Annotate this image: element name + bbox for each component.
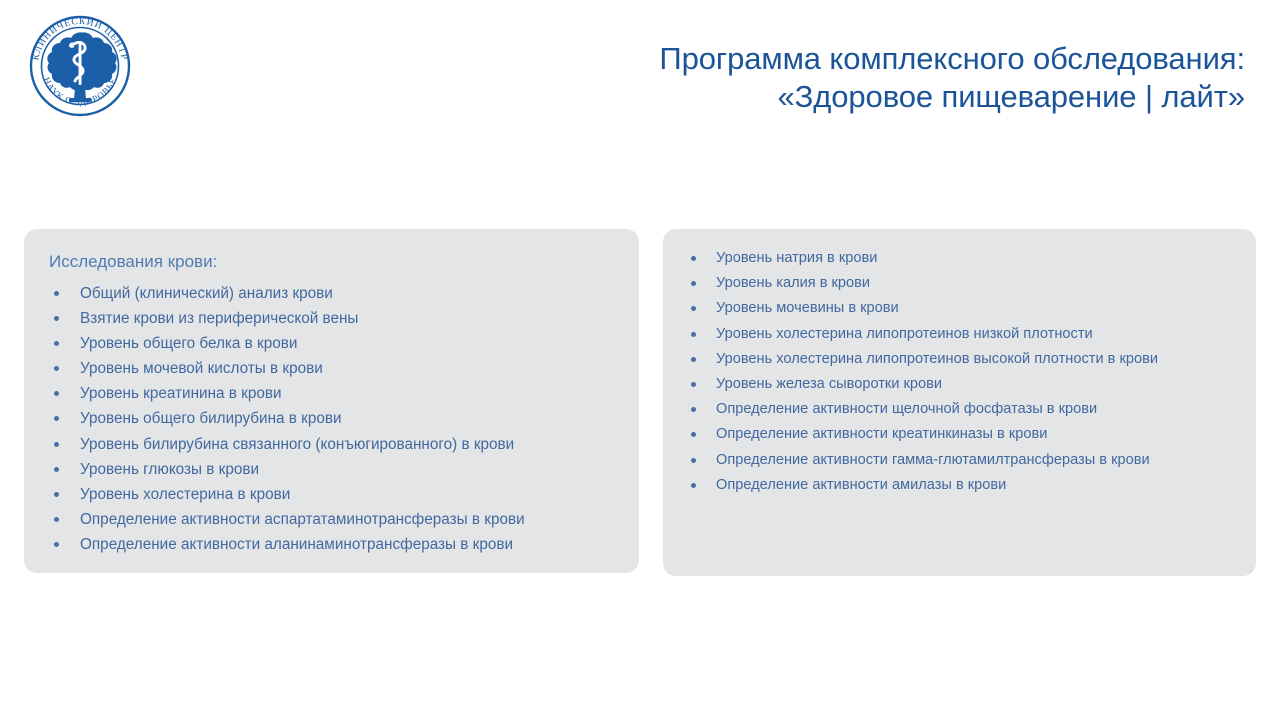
blood-test-label: Уровень креатинина в крови: [80, 385, 282, 402]
blood-test-label: Определение активности гамма-глютамилтра…: [716, 452, 1150, 468]
list-item: Определение активности гамма-глютамилтра…: [677, 448, 1242, 473]
blood-test-label: Уровень холестерина в крови: [80, 486, 290, 503]
bullet-dot-icon: [54, 542, 59, 547]
blood-test-label: Уровень железа сыворотки крови: [716, 376, 942, 392]
list-item: Взятие крови из периферической вены: [38, 306, 625, 331]
list-item: Уровень билирубина связанного (конъюгиро…: [38, 432, 625, 457]
blood-test-label: Определение активности креатинкиназы в к…: [716, 426, 1047, 442]
blood-tests-list: Общий (клинический) анализ кровиВзятие к…: [38, 281, 625, 557]
blood-test-label: Взятие крови из периферической вены: [80, 310, 358, 327]
blood-test-label: Уровень натрия в крови: [716, 250, 877, 266]
list-item: Уровень мочевой кислоты в крови: [38, 356, 625, 381]
blood-test-label: Уровень холестерина липопротеинов высоко…: [716, 351, 1158, 367]
clinic-logo: КЛИНИЧЕСКИЙ ЦЕНТР НАУК О ЗДОРОВЬЕ: [22, 8, 138, 124]
bullet-dot-icon: [691, 357, 696, 362]
blood-test-label: Определение активности аспартатаминотран…: [80, 511, 525, 528]
blood-test-label: Уровень билирубина связанного (конъюгиро…: [80, 436, 514, 453]
list-item: Определение активности щелочной фосфатаз…: [677, 397, 1242, 422]
bullet-dot-icon: [691, 432, 696, 437]
blood-test-label: Определение активности аланинаминотрансф…: [80, 536, 513, 553]
list-item: Определение активности аланинаминотрансф…: [38, 532, 625, 557]
blood-test-label: Уровень общего белка в крови: [80, 335, 297, 352]
page-title-line-1: Программа комплексного обследования:: [485, 40, 1245, 78]
bullet-dot-icon: [54, 366, 59, 371]
bullet-dot-icon: [691, 407, 696, 412]
list-item: Определение активности амилазы в крови: [677, 473, 1242, 498]
bullet-dot-icon: [54, 442, 59, 447]
list-item: Уровень креатинина в крови: [38, 381, 625, 406]
bullet-dot-icon: [691, 332, 696, 337]
page-title-line-2: «Здоровое пищеварение | лайт»: [485, 78, 1245, 116]
blood-test-label: Определение активности амилазы в крови: [716, 477, 1006, 493]
blood-test-label: Уровень холестерина липопротеинов низкой…: [716, 326, 1093, 342]
blood-tests-list-continued: Уровень натрия в кровиУровень калия в кр…: [677, 246, 1242, 498]
bullet-dot-icon: [54, 291, 59, 296]
list-item: Уровень глюкозы в крови: [38, 457, 625, 482]
list-item: Уровень холестерина в крови: [38, 482, 625, 507]
bullet-dot-icon: [54, 391, 59, 396]
list-item: Уровень общего билирубина в крови: [38, 406, 625, 431]
bullet-dot-icon: [691, 483, 696, 488]
list-item: Уровень холестерина липопротеинов низкой…: [677, 322, 1242, 347]
blood-test-label: Уровень мочевины в крови: [716, 300, 899, 316]
blood-test-label: Уровень мочевой кислоты в крови: [80, 360, 323, 377]
list-item: Уровень железа сыворотки крови: [677, 372, 1242, 397]
list-item: Определение активности креатинкиназы в к…: [677, 422, 1242, 447]
clinic-logo-emblem: КЛИНИЧЕСКИЙ ЦЕНТР НАУК О ЗДОРОВЬЕ: [22, 8, 138, 124]
bullet-dot-icon: [54, 316, 59, 321]
bullet-dot-icon: [691, 306, 696, 311]
list-item: Уровень мочевины в крови: [677, 296, 1242, 321]
page-title: Программа комплексного обследования: «Зд…: [485, 40, 1245, 116]
bullet-dot-icon: [54, 467, 59, 472]
blood-test-label: Общий (клинический) анализ крови: [80, 285, 333, 302]
list-item: Общий (клинический) анализ крови: [38, 281, 625, 306]
bullet-dot-icon: [54, 416, 59, 421]
list-item: Определение активности аспартатаминотран…: [38, 507, 625, 532]
bullet-dot-icon: [691, 458, 696, 463]
blood-test-label: Уровень общего билирубина в крови: [80, 410, 342, 427]
list-item: Уровень калия в крови: [677, 271, 1242, 296]
blood-test-label: Уровень глюкозы в крови: [80, 461, 259, 478]
bullet-dot-icon: [691, 281, 696, 286]
blood-test-label: Определение активности щелочной фосфатаз…: [716, 401, 1097, 417]
blood-tests-panel: Исследования крови: Общий (клинический) …: [24, 229, 639, 573]
blood-tests-heading: Исследования крови:: [49, 251, 625, 273]
list-item: Уровень холестерина липопротеинов высоко…: [677, 347, 1242, 372]
bullet-dot-icon: [54, 492, 59, 497]
bullet-dot-icon: [691, 382, 696, 387]
blood-test-label: Уровень калия в крови: [716, 275, 870, 291]
bullet-dot-icon: [54, 517, 59, 522]
blood-tests-panel-continued: Уровень натрия в кровиУровень калия в кр…: [663, 229, 1256, 576]
bullet-dot-icon: [691, 256, 696, 261]
list-item: Уровень общего белка в крови: [38, 331, 625, 356]
list-item: Уровень натрия в крови: [677, 246, 1242, 271]
bullet-dot-icon: [54, 341, 59, 346]
